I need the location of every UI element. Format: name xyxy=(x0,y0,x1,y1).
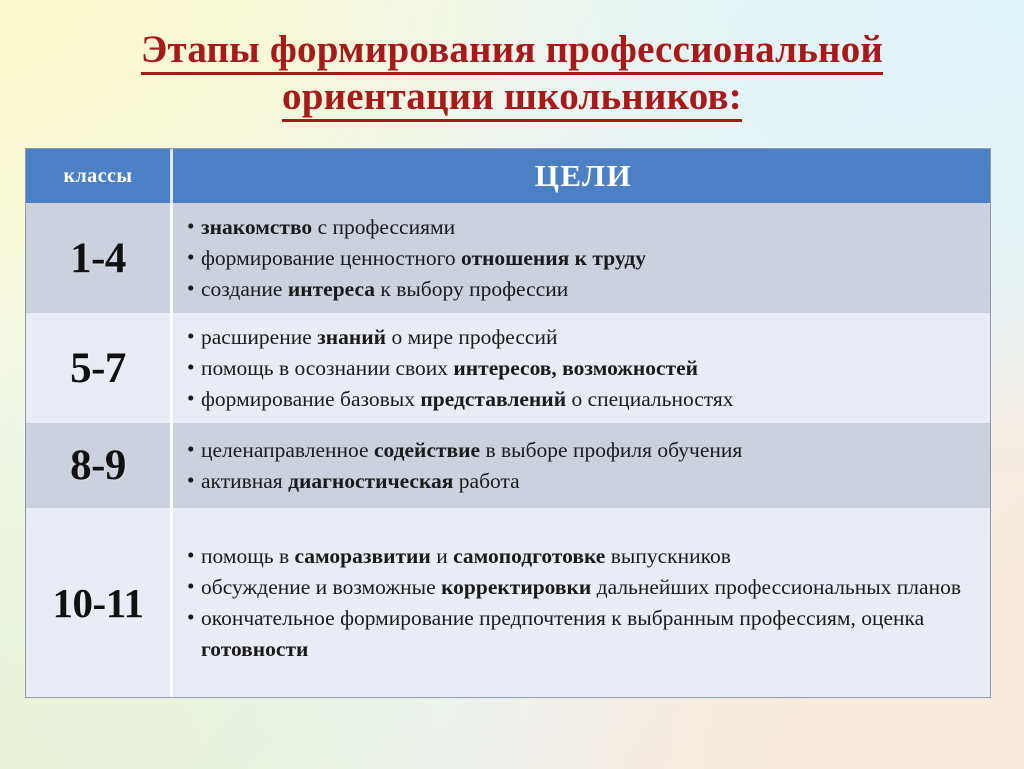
bullet-dot-icon: • xyxy=(187,352,195,383)
column-header-grades-label: классы xyxy=(63,165,132,188)
grade-label: 1-4 xyxy=(70,234,126,283)
goals-cell: •расширение знаний о мире профессий•помо… xyxy=(173,313,990,423)
goal-text: активная xyxy=(201,469,288,493)
column-header-grades: классы xyxy=(26,149,173,203)
grade-cell: 8-9 xyxy=(26,423,173,508)
column-header-goals: ЦЕЛИ xyxy=(173,149,990,203)
table-header-row: классы ЦЕЛИ xyxy=(26,149,990,203)
goals-table: классы ЦЕЛИ 1-4•знакомство с профессиями… xyxy=(25,148,991,698)
goal-emphasis: готовности xyxy=(201,637,308,661)
goal-emphasis: интереса xyxy=(288,277,375,301)
bullet-dot-icon: • xyxy=(187,211,195,242)
goals-cell: •помощь в саморазвитии и самоподготовке … xyxy=(173,508,990,697)
goal-emphasis: отношения к труду xyxy=(461,246,646,270)
goal-bullet: •формирование базовых представлений о сп… xyxy=(187,384,980,415)
goal-emphasis: содействие xyxy=(374,438,480,462)
slide-canvas: Этапы формирования профессиональной орие… xyxy=(0,0,1024,769)
grade-label: 10-11 xyxy=(53,579,144,627)
goal-text: целенаправленное xyxy=(201,438,374,462)
bullet-dot-icon: • xyxy=(187,540,195,571)
goal-emphasis: корректировки xyxy=(441,575,591,599)
table-row: 1-4•знакомство с профессиями•формировани… xyxy=(26,203,990,313)
goal-text: к выбору профессии xyxy=(375,277,568,301)
goal-emphasis: знакомство xyxy=(201,215,312,239)
page-title-line-1-text: Этапы формирования профессиональной xyxy=(141,28,883,75)
bullet-dot-icon: • xyxy=(187,571,195,602)
page-title-line-1: Этапы формирования профессиональной xyxy=(0,26,1024,73)
goal-text: создание xyxy=(201,277,288,301)
bullet-dot-icon: • xyxy=(187,242,195,273)
column-header-goals-label: ЦЕЛИ xyxy=(535,158,633,194)
goal-text: расширение xyxy=(201,325,317,349)
table-row: 8-9•целенаправленное содействие в выборе… xyxy=(26,423,990,508)
goal-text: помощь в осознании своих xyxy=(201,356,453,380)
page-title-line-2: ориентации школьников: xyxy=(0,73,1024,120)
goals-cell: •целенаправленное содействие в выборе пр… xyxy=(173,423,990,508)
page-title-line-2-text: ориентации школьников: xyxy=(282,75,742,122)
goal-emphasis: интересов, возможностей xyxy=(453,356,698,380)
goal-bullet: •формирование ценностного отношения к тр… xyxy=(187,243,980,274)
bullet-dot-icon: • xyxy=(187,383,195,414)
goal-text: с профессиями xyxy=(312,215,455,239)
goal-text: дальнейших профессиональных планов xyxy=(591,575,961,599)
grade-cell: 5-7 xyxy=(26,313,173,423)
goal-text: обсуждение и возможные xyxy=(201,575,441,599)
goal-emphasis: знаний xyxy=(317,325,386,349)
goal-text: о мире профессий xyxy=(386,325,557,349)
grade-cell: 1-4 xyxy=(26,203,173,313)
bullet-dot-icon: • xyxy=(187,273,195,304)
goal-emphasis: самоподготовке xyxy=(453,544,605,568)
goal-text: окончательное формирование предпочтения … xyxy=(201,606,924,630)
goal-bullet: •расширение знаний о мире профессий xyxy=(187,322,980,353)
bullet-dot-icon: • xyxy=(187,602,195,633)
grade-cell: 10-11 xyxy=(26,508,173,697)
bullet-dot-icon: • xyxy=(187,465,195,496)
goal-bullet: •создание интереса к выбору профессии xyxy=(187,274,980,305)
goal-text: работа xyxy=(453,469,519,493)
goal-text: формирование ценностного xyxy=(201,246,461,270)
table-row: 10-11•помощь в саморазвитии и самоподгот… xyxy=(26,508,990,697)
goal-bullet: •целенаправленное содействие в выборе пр… xyxy=(187,435,980,466)
goals-cell: •знакомство с профессиями•формирование ц… xyxy=(173,203,990,313)
goal-emphasis: представлений xyxy=(420,387,566,411)
goal-emphasis: саморазвитии xyxy=(294,544,430,568)
goal-emphasis: диагностическая xyxy=(288,469,453,493)
page-title: Этапы формирования профессиональной орие… xyxy=(0,26,1024,120)
goal-text: формирование базовых xyxy=(201,387,420,411)
goal-bullet: •окончательное формирование предпочтения… xyxy=(187,603,980,665)
goal-bullet: •помощь в саморазвитии и самоподготовке … xyxy=(187,541,980,572)
goal-text: в выборе профиля обучения xyxy=(480,438,742,462)
goal-bullet: •активная диагностическая работа xyxy=(187,466,980,497)
goal-bullet: •помощь в осознании своих интересов, воз… xyxy=(187,353,980,384)
goal-text: о специальностях xyxy=(566,387,733,411)
goal-text: помощь в xyxy=(201,544,294,568)
goal-text: выпускников xyxy=(605,544,730,568)
goal-text: и xyxy=(431,544,453,568)
bullet-dot-icon: • xyxy=(187,321,195,352)
grade-label: 8-9 xyxy=(70,441,126,490)
goal-bullet: •знакомство с профессиями xyxy=(187,212,980,243)
goal-bullet: •обсуждение и возможные корректировки да… xyxy=(187,572,980,603)
table-row: 5-7•расширение знаний о мире профессий•п… xyxy=(26,313,990,423)
bullet-dot-icon: • xyxy=(187,434,195,465)
grade-label: 5-7 xyxy=(70,344,126,393)
